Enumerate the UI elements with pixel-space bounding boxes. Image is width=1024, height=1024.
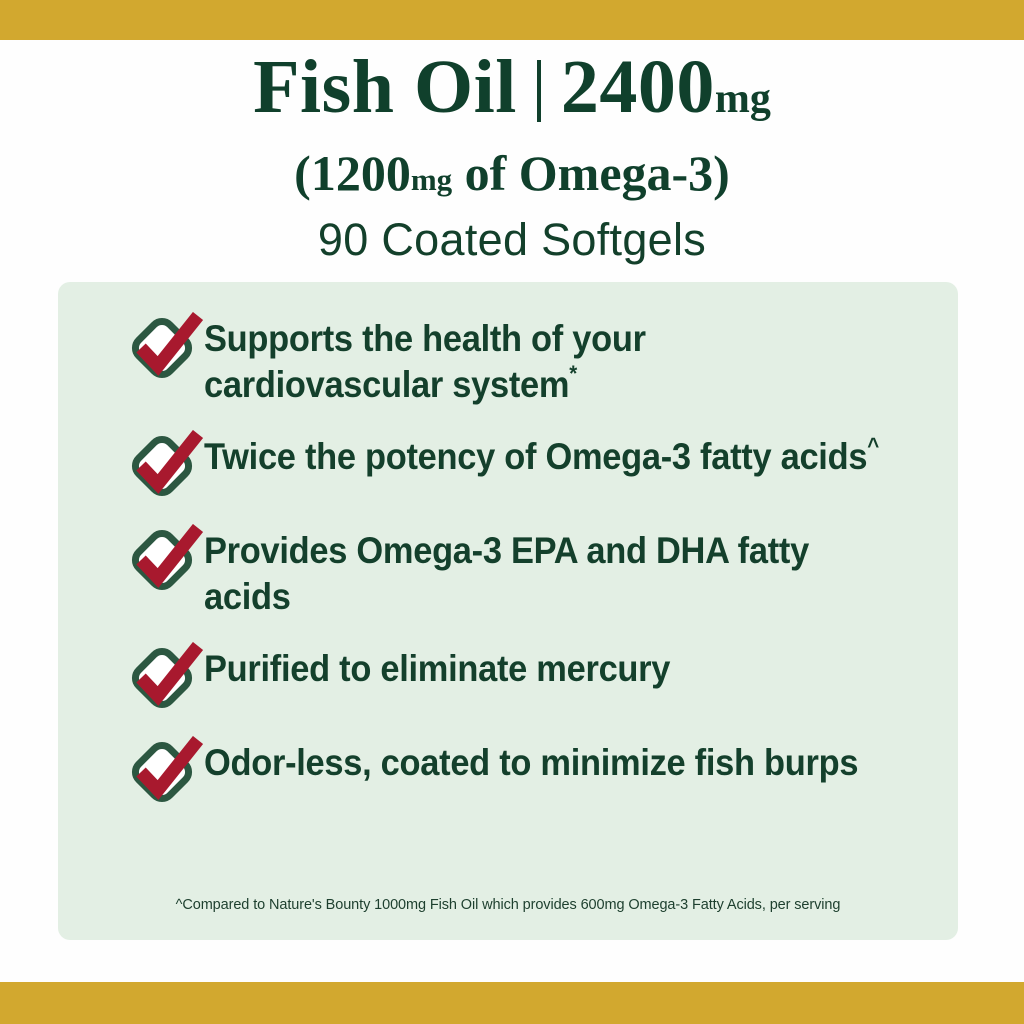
subtitle-unit: mg xyxy=(411,162,452,197)
subtitle-rest: of Omega-3) xyxy=(452,145,730,201)
list-item-label: Purified to eliminate mercury xyxy=(204,640,885,692)
bottom-gold-band xyxy=(0,982,1024,1024)
subtitle-value: 1200 xyxy=(311,145,411,201)
title-block: Fish Oil2400mg (1200mg of Omega-3) 90 Co… xyxy=(0,44,1024,269)
omega-subtitle-line: (1200mg of Omega-3) xyxy=(0,142,1024,211)
top-gold-band xyxy=(0,0,1024,40)
product-label-page: Fish Oil2400mg (1200mg of Omega-3) 90 Co… xyxy=(0,0,1024,1024)
check-diamond-icon xyxy=(126,524,204,596)
subtitle-paren-open: ( xyxy=(294,145,311,201)
check-diamond-icon xyxy=(126,642,204,714)
list-item-label: Supports the health of your cardiovascul… xyxy=(204,310,885,408)
benefits-panel: Supports the health of your cardiovascul… xyxy=(58,282,958,940)
list-item: Twice the potency of Omega-3 fatty acids… xyxy=(126,428,936,502)
check-diamond-icon xyxy=(126,430,204,502)
strength-value: 2400 xyxy=(561,45,715,129)
strength-unit: mg xyxy=(715,76,771,122)
benefits-list: Supports the health of your cardiovascul… xyxy=(126,310,936,808)
benefit-text: Odor-less, coated to minimize fish burps xyxy=(204,742,858,783)
list-item: Purified to eliminate mercury xyxy=(126,640,936,714)
list-item-label: Odor-less, coated to minimize fish burps xyxy=(204,734,885,786)
benefit-text: Provides Omega-3 EPA and DHA fatty acids xyxy=(204,530,809,617)
benefit-marker: ^ xyxy=(867,433,879,458)
list-item-label: Twice the potency of Omega-3 fatty acids… xyxy=(204,428,885,480)
list-item: Provides Omega-3 EPA and DHA fatty acids xyxy=(126,522,936,620)
softgel-count-line: 90 Coated Softgels xyxy=(0,211,1024,269)
product-name: Fish Oil xyxy=(253,45,517,129)
product-title-line: Fish Oil2400mg xyxy=(0,44,1024,142)
list-item: Odor-less, coated to minimize fish burps xyxy=(126,734,936,808)
title-divider xyxy=(537,60,541,122)
footnote-text: ^Compared to Nature's Bounty 1000mg Fish… xyxy=(58,896,958,914)
benefit-text: Purified to eliminate mercury xyxy=(204,648,670,689)
check-diamond-icon xyxy=(126,312,204,384)
benefit-text: Twice the potency of Omega-3 fatty acids xyxy=(204,436,867,477)
list-item: Supports the health of your cardiovascul… xyxy=(126,310,936,408)
check-diamond-icon xyxy=(126,736,204,808)
benefit-marker: * xyxy=(569,361,577,386)
benefit-text: Supports the health of your cardiovascul… xyxy=(204,318,646,405)
list-item-label: Provides Omega-3 EPA and DHA fatty acids xyxy=(204,522,885,620)
